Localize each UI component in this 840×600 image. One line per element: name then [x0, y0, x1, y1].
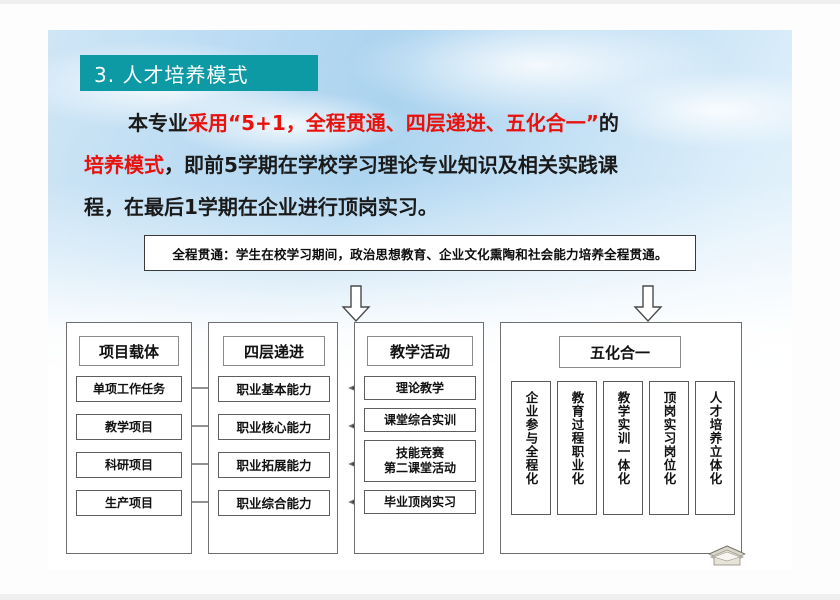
- cell-label: 理论教学: [396, 381, 444, 396]
- cell-teaching-3: 技能竞赛 第二课堂活动: [364, 440, 476, 482]
- diagram-panel-four-levels: 四层递进 职业基本能力 职业核心能力 职业拓展能力 职业综合能力: [208, 322, 338, 554]
- cell-teaching-4: 毕业顶岗实习: [364, 490, 476, 514]
- cell-label: 职业综合能力: [236, 496, 311, 511]
- vcell-five-integrations-2: 教育过程职业化: [557, 381, 597, 515]
- cell-four-levels-3: 职业拓展能力: [218, 452, 330, 478]
- panel-header-project-carrier: 项目载体: [79, 336, 179, 366]
- panel-header-label: 四层递进: [244, 341, 304, 362]
- cell-project-carrier-1: 单项工作任务: [76, 376, 182, 402]
- banner-text: 全程贯通：学生在校学习期间，政治思想教育、企业文化熏陶和社会能力培养全程贯通。: [172, 244, 667, 263]
- cell-label: 职业基本能力: [236, 382, 311, 397]
- vcell-label: 人才培养立体化: [706, 391, 725, 486]
- cell-label: 毕业顶岗实习: [384, 495, 456, 510]
- cell-label: 职业拓展能力: [236, 458, 311, 473]
- body-line2-highlight: 培养模式: [84, 153, 164, 177]
- cell-project-carrier-3: 科研项目: [76, 452, 182, 478]
- cell-label: 职业核心能力: [236, 420, 311, 435]
- viewer-bottom-edge: [0, 594, 840, 600]
- panel-header-label: 教学活动: [390, 341, 450, 362]
- cell-label: 生产项目: [105, 496, 153, 511]
- cell-four-levels-2: 职业核心能力: [218, 414, 330, 440]
- cell-teaching-2: 课堂综合实训: [364, 408, 476, 432]
- cell-four-levels-1: 职业基本能力: [218, 376, 330, 402]
- body-line3: 程，在最后1学期在企业进行顶岗实习。: [84, 195, 438, 219]
- cell-label: 科研项目: [105, 458, 153, 473]
- body-line2-suffix: ，即前5学期在学校学习理论专业知识及相关实践课: [164, 153, 618, 177]
- vcell-five-integrations-5: 人才培养立体化: [695, 381, 735, 515]
- cell-label: 教学项目: [105, 420, 153, 435]
- book-stack-icon: [705, 543, 749, 569]
- cell-project-carrier-4: 生产项目: [76, 490, 182, 516]
- down-block-arrow-icon: [633, 285, 663, 323]
- vcell-five-integrations-3: 教学实训一体化: [603, 381, 643, 515]
- panel-header-label: 五化合一: [590, 342, 650, 363]
- slide-title-chip: 3. 人才培养模式: [80, 55, 318, 91]
- panel-header-four-levels: 四层递进: [223, 336, 325, 366]
- diagram-panel-teaching-activities: 教学活动 理论教学 课堂综合实训 技能竞赛 第二课堂活动 毕业顶岗实习: [354, 322, 484, 554]
- down-block-arrow-icon: [341, 285, 371, 323]
- panel-header-label: 项目载体: [99, 341, 159, 362]
- slide-viewer: 3. 人才培养模式 本专业采用“5+1，全程贯通、四层递进、五化合一”的培养模式…: [0, 0, 840, 600]
- diagram-panel-project-carrier: 项目载体 单项工作任务 教学项目 科研项目 生产项目: [66, 322, 192, 554]
- cell-four-levels-4: 职业综合能力: [218, 490, 330, 516]
- vcell-label: 教育过程职业化: [568, 391, 587, 486]
- presentation-slide: 3. 人才培养模式 本专业采用“5+1，全程贯通、四层递进、五化合一”的培养模式…: [48, 30, 792, 570]
- cell-label: 单项工作任务: [93, 382, 165, 397]
- quanchengguantong-banner: 全程贯通：学生在校学习期间，政治思想教育、企业文化熏陶和社会能力培养全程贯通。: [144, 235, 696, 271]
- page-title: 3. 人才培养模式: [94, 59, 248, 88]
- vcell-label: 顶岗实习岗位化: [660, 391, 679, 486]
- cell-label: 技能竞赛: [396, 446, 444, 461]
- panel-header-five-integrations: 五化合一: [559, 336, 681, 368]
- vcell-label: 企业参与全程化: [522, 391, 541, 486]
- cell-project-carrier-2: 教学项目: [76, 414, 182, 440]
- cell-label-second-line: 第二课堂活动: [384, 461, 456, 476]
- diagram-panel-five-integrations: 五化合一 企业参与全程化 教育过程职业化 教学实训一体化 顶岗实习岗位化 人才培…: [500, 322, 742, 554]
- cell-label: 课堂综合实训: [384, 413, 456, 428]
- viewer-top-edge: [0, 0, 840, 4]
- body-line1-highlight: 采用“5+1，全程贯通、四层递进、五化合一”: [188, 111, 599, 135]
- body-line1-prefix: 本专业: [128, 111, 188, 135]
- body-line1-suffix: 的: [599, 111, 619, 135]
- vcell-five-integrations-1: 企业参与全程化: [511, 381, 551, 515]
- body-paragraph: 本专业采用“5+1，全程贯通、四层递进、五化合一”的培养模式，即前5学期在学校学…: [84, 102, 764, 228]
- vcell-five-integrations-4: 顶岗实习岗位化: [649, 381, 689, 515]
- vcell-label: 教学实训一体化: [614, 391, 633, 486]
- panel-header-teaching-activities: 教学活动: [367, 336, 473, 366]
- cell-teaching-1: 理论教学: [364, 376, 476, 400]
